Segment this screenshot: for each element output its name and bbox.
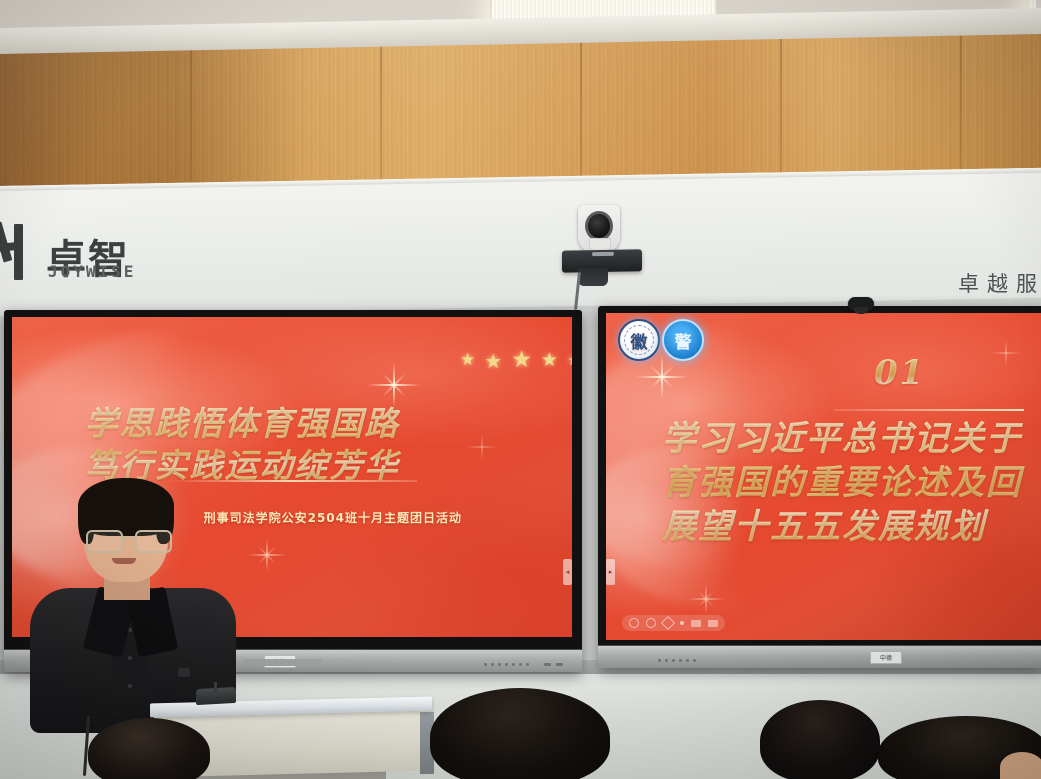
slide-floating-toolbar[interactable]: [622, 615, 725, 631]
display-brand-tag: 中德: [870, 651, 902, 664]
photo-scene: 卓智 JOYWISE 卓越服 ★ ★ ★ ★: [0, 0, 1041, 779]
police-emblem-icon: 警: [662, 319, 704, 361]
toolbar-circle-icon[interactable]: [646, 618, 656, 628]
toolbar-pen-icon[interactable]: [661, 616, 675, 630]
upper-white-wall: [0, 168, 1041, 316]
toolbar-rect-icon[interactable]: [691, 620, 701, 627]
joywise-logo-en: JOYWISE: [48, 262, 136, 281]
right-slide-body-line1: 学习习近平总书记关于: [662, 417, 1041, 461]
left-slide-title: 学思践悟体育强国路 笃行实践运动绽芳华: [42, 403, 442, 487]
right-display-screen[interactable]: 徽 警 01 学习习近平总书记关于 育强国的重要论述及回 展望十五五发展规划 ▸: [606, 313, 1041, 640]
left-slide-title-line1: 学思践悟体育强国路: [42, 403, 442, 445]
right-interactive-display[interactable]: 徽 警 01 学习习近平总书记关于 育强国的重要论述及回 展望十五五发展规划 ▸: [598, 306, 1041, 668]
right-display-bezel: 中德: [598, 645, 1041, 668]
right-slide-number-underline: [834, 409, 1024, 411]
audience-head: [430, 688, 610, 779]
audience-head: [760, 700, 880, 779]
toolbar-circle-icon[interactable]: [629, 618, 639, 628]
left-screen-side-tab[interactable]: ◂: [563, 559, 572, 585]
university-emblem-icon: 徽: [618, 319, 660, 361]
right-slide-section-number: 01: [874, 353, 925, 393]
presenter-pocket: [178, 668, 190, 677]
right-screen-side-tab[interactable]: ▸: [606, 559, 615, 585]
audience-head: [88, 718, 210, 779]
toolbar-rect-icon[interactable]: [708, 620, 718, 627]
audience-shoulder: [1000, 752, 1041, 779]
five-stars-decoration: ★ ★ ★ ★ ★: [460, 349, 572, 372]
right-slide-body-line3: 展望十五五发展规划: [662, 505, 1041, 549]
right-slide-body-line2: 育强国的重要论述及回: [662, 461, 1041, 505]
presenter-mouth: [112, 558, 136, 564]
ptz-camera-icon: [578, 205, 620, 253]
joywise-logo-mark: [0, 222, 42, 282]
toolbar-dot-icon[interactable]: [680, 621, 684, 625]
speaker-grille: [658, 659, 696, 662]
glasses-icon: [86, 530, 170, 550]
speaker-grille: [484, 663, 529, 666]
small-camera-icon: [848, 297, 874, 311]
display-buttons[interactable]: [544, 663, 563, 666]
right-slide-body: 学习习近平总书记关于 育强国的重要论述及回 展望十五五发展规划: [662, 417, 1041, 550]
camera-mount-stem: [578, 268, 608, 286]
microphone-stem: [214, 682, 217, 692]
wall-slogan: 卓越服: [958, 268, 1041, 298]
